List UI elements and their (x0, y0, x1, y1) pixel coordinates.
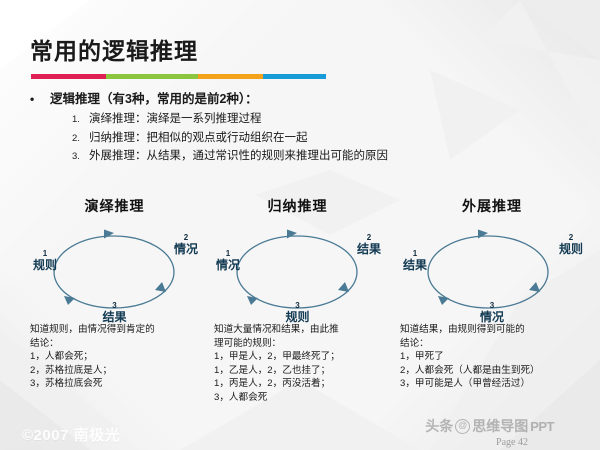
column-title: 外展推理 (392, 196, 592, 216)
cycle-node-left: 1 结果 (388, 250, 442, 272)
bullet-sub-text: 归纳推理：把相似的观点或行动组织在一起 (89, 130, 308, 147)
cycle-node-bottom: 3 情况 (462, 302, 522, 324)
cycle-node-label: 结果 (388, 259, 442, 272)
bullet-sub-number: 1. (72, 113, 89, 127)
cycle-diagram: 1 结果 2 规则 3 情况 (392, 216, 592, 328)
bullet-sub-number: 2. (72, 132, 89, 146)
reasoning-column-abductive: 外展推理 1 结果 2 规则 3 情况 (392, 196, 592, 328)
page-title: 常用的逻辑推理 (30, 40, 198, 63)
cycle-node-left: 1 情况 (201, 250, 255, 272)
bullet-main: • 逻辑推理（有3种，常用的是前2种）： (30, 88, 570, 107)
page-number: Page 42 (496, 437, 528, 448)
cycle-node-bottom: 3 结果 (85, 302, 145, 324)
bullet-sub-2: 2. 归纳推理：把相似的观点或行动组织在一起 (72, 130, 570, 147)
bullet-list: • 逻辑推理（有3种，常用的是前2种）： 1. 演绎推理：演绎是一系列推理过程 … (30, 88, 570, 167)
accent-segment-3 (198, 74, 263, 79)
cycle-node-right: 2 规则 (544, 234, 598, 256)
accent-segment-1 (31, 74, 106, 79)
cycle-diagram: 1 规则 2 情况 3 结果 (22, 216, 207, 328)
reasoning-column-deductive: 演绎推理 1 规则 2 情况 3 结果 (22, 196, 207, 328)
column-description-inductive: 知道大量情况和结果，由此推 理可能的规则： 1，甲是人，2，甲最终死了； 1，乙… (214, 323, 386, 405)
bullet-sub-text: 外展推理：从结果，通过常识性的规则来推理出可能的原因 (89, 148, 388, 165)
accent-segment-2 (106, 74, 197, 79)
cycle-node-label: 情况 (201, 259, 255, 272)
cycle-node-left: 1 规则 (18, 250, 72, 272)
cycle-diagram: 1 情况 2 结果 3 规则 (205, 216, 390, 328)
reasoning-column-inductive: 归纳推理 1 情况 2 结果 3 规则 (205, 196, 390, 328)
column-title: 演绎推理 (22, 196, 207, 216)
cycle-node-label: 规则 (18, 259, 72, 272)
bullet-sub-number: 3. (72, 150, 89, 164)
accent-segment-4 (263, 74, 326, 79)
bullet-sub-3: 3. 外展推理：从结果，通过常识性的规则来推理出可能的原因 (72, 148, 570, 165)
bullet-sub-1: 1. 演绎推理：演绎是一系列推理过程 (72, 111, 570, 128)
bullet-marker: • (30, 92, 50, 106)
bullet-sub-text: 演绎推理：演绎是一系列推理过程 (89, 111, 262, 128)
column-description-deductive: 知道规则，由情况得到肯定的 结论： 1，人都会死； 2，苏格拉底是人； 3，苏格… (30, 323, 200, 391)
column-title: 归纳推理 (205, 196, 390, 216)
bullet-main-text: 逻辑推理（有3种，常用的是前2种）： (50, 88, 258, 107)
cycle-node-bottom: 3 规则 (268, 302, 328, 324)
cycle-node-label: 规则 (544, 243, 598, 256)
slide-canvas: 常用的逻辑推理 • 逻辑推理（有3种，常用的是前2种）： 1. 演绎推理：演绎是… (0, 0, 600, 450)
accent-bar (31, 74, 326, 79)
column-description-abductive: 知道结果，由规则得到可能的 结论： 1，甲死了 2，人都会死（人都是由生到死） … (400, 323, 590, 391)
